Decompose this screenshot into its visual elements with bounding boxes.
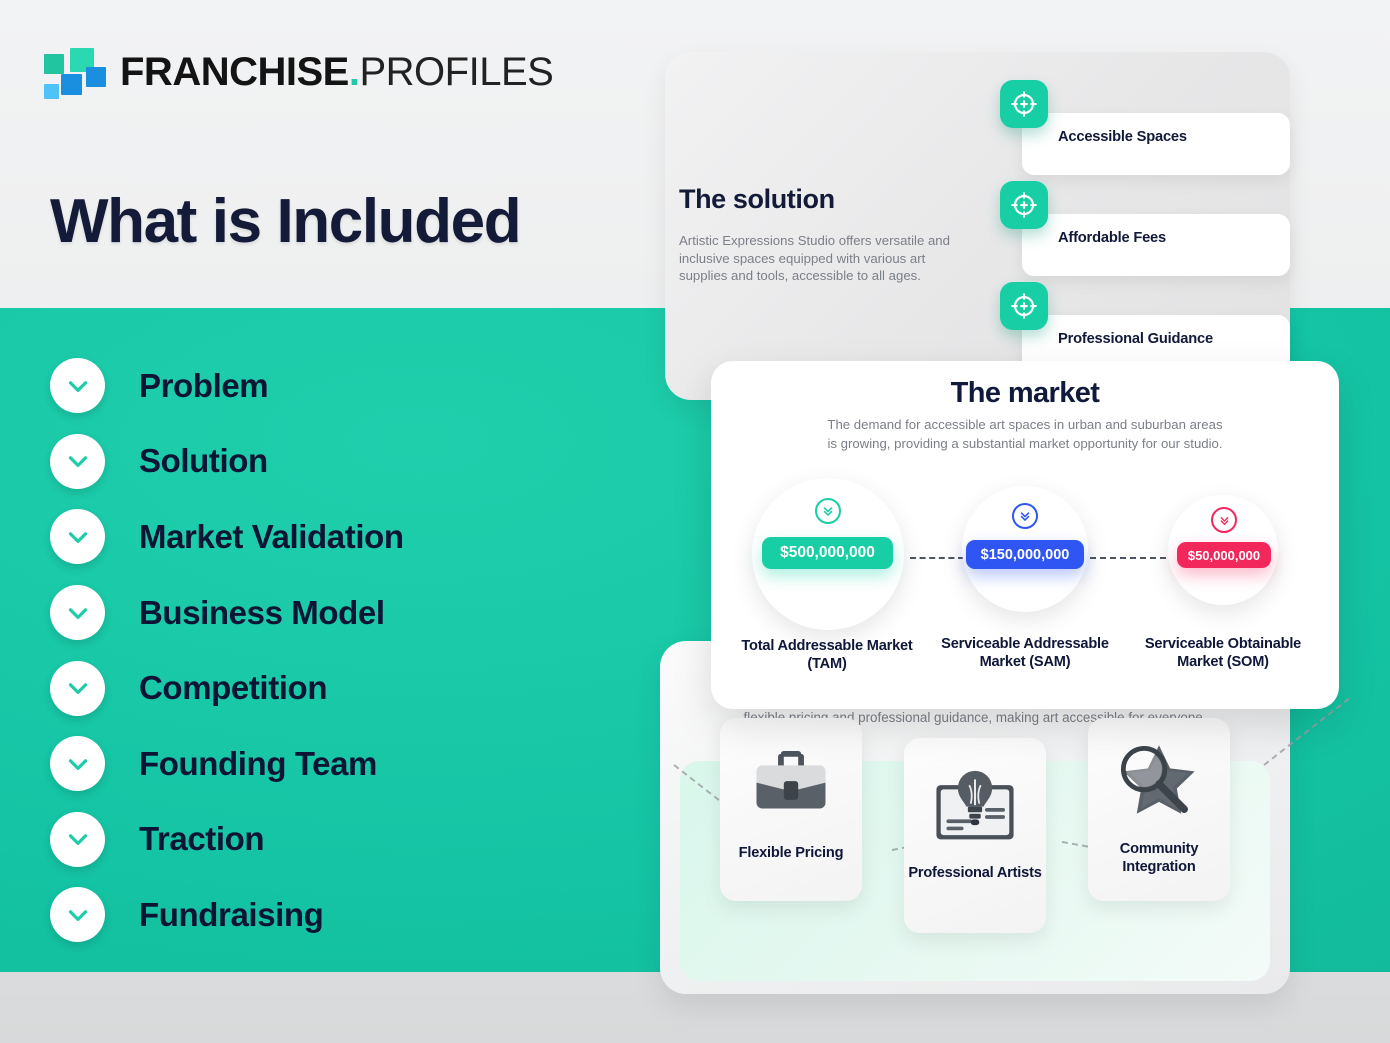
list-item[interactable]: Traction bbox=[50, 802, 610, 878]
market-label-sam: Serviceable Addressable Market (SAM) bbox=[929, 636, 1121, 671]
list-item[interactable]: Business Model bbox=[50, 575, 610, 651]
target-icon bbox=[1000, 80, 1048, 128]
market-connector-dash-2 bbox=[1090, 557, 1166, 559]
target-icon bbox=[1000, 282, 1048, 330]
list-item[interactable]: Fundraising bbox=[50, 877, 610, 953]
list-item[interactable]: Market Validation bbox=[50, 499, 610, 575]
list-item-label: Solution bbox=[139, 442, 268, 480]
logo-mark-icon bbox=[44, 48, 106, 100]
list-item-label: Founding Team bbox=[139, 745, 377, 783]
solution-item[interactable]: Accessible Spaces bbox=[1000, 102, 1290, 162]
solution-item[interactable]: Affordable Fees bbox=[1000, 203, 1290, 263]
solution-title: The solution bbox=[679, 184, 835, 215]
chevron-down-icon bbox=[50, 585, 105, 640]
feature-label: Flexible Pricing bbox=[739, 844, 844, 862]
market-label-tam: Total Addressable Market (TAM) bbox=[731, 638, 923, 673]
briefcase-icon bbox=[745, 738, 837, 830]
list-item-label: Market Validation bbox=[139, 518, 404, 556]
feature-label: Professional Artists bbox=[908, 864, 1041, 882]
list-item[interactable]: Problem bbox=[50, 348, 610, 424]
chevron-down-icon bbox=[50, 434, 105, 489]
feature-card-community-integration[interactable]: Community Integration bbox=[1088, 718, 1230, 901]
solution-item-label: Accessible Spaces bbox=[1058, 129, 1187, 145]
market-value-sam: $150,000,000 bbox=[966, 540, 1084, 569]
market-connector-dash-1 bbox=[910, 557, 964, 559]
logo-dot: . bbox=[349, 50, 360, 94]
list-item-label: Fundraising bbox=[139, 896, 323, 934]
logo-bold-text: FRANCHISE bbox=[120, 50, 349, 94]
solution-description: Artistic Expressions Studio offers versa… bbox=[679, 232, 954, 285]
chevron-down-icon bbox=[50, 736, 105, 791]
feature-card-flexible-pricing[interactable]: Flexible Pricing bbox=[720, 718, 862, 901]
brand-logo[interactable]: FRANCHISE.PROFILES bbox=[44, 48, 544, 108]
chevron-down-icon bbox=[50, 509, 105, 564]
target-icon bbox=[1000, 181, 1048, 229]
market-description: The demand for accessible art spaces in … bbox=[825, 416, 1225, 453]
solution-item-label: Affordable Fees bbox=[1058, 230, 1166, 246]
solution-card: The solution Artistic Expressions Studio… bbox=[665, 52, 1290, 400]
list-item-label: Traction bbox=[139, 820, 264, 858]
chevron-down-icon bbox=[50, 661, 105, 716]
feature-label: Community Integration bbox=[1088, 840, 1230, 876]
lightbulb-board-icon bbox=[925, 762, 1025, 854]
list-item-label: Problem bbox=[139, 367, 268, 405]
market-title: The market bbox=[711, 377, 1339, 410]
market-label-som: Serviceable Obtainable Market (SOM) bbox=[1127, 636, 1319, 671]
left-column: FRANCHISE.PROFILES What is Included Prob… bbox=[0, 0, 660, 1043]
double-chevron-down-icon bbox=[815, 498, 841, 524]
list-item-label: Competition bbox=[139, 669, 327, 707]
chevron-down-icon bbox=[50, 812, 105, 867]
logo-wordmark: FRANCHISE.PROFILES bbox=[120, 44, 553, 100]
star-magnifier-icon bbox=[1107, 736, 1211, 832]
included-list: Problem Solution Market Validation Busin… bbox=[50, 348, 610, 953]
list-item-label: Business Model bbox=[139, 594, 385, 632]
double-chevron-down-icon bbox=[1012, 503, 1038, 529]
logo-light-text: PROFILES bbox=[359, 50, 553, 94]
feature-card-professional-artists[interactable]: Professional Artists bbox=[904, 738, 1046, 933]
solution-item[interactable]: Professional Guidance bbox=[1000, 304, 1290, 364]
chevron-down-icon bbox=[50, 887, 105, 942]
list-item[interactable]: Solution bbox=[50, 424, 610, 500]
list-item[interactable]: Competition bbox=[50, 650, 610, 726]
chevron-down-icon bbox=[50, 358, 105, 413]
solution-item-label: Professional Guidance bbox=[1058, 331, 1213, 347]
double-chevron-down-icon bbox=[1211, 507, 1237, 533]
list-item[interactable]: Founding Team bbox=[50, 726, 610, 802]
page-title: What is Included bbox=[50, 186, 520, 257]
market-value-som: $50,000,000 bbox=[1177, 542, 1271, 568]
market-value-tam: $500,000,000 bbox=[762, 537, 893, 569]
